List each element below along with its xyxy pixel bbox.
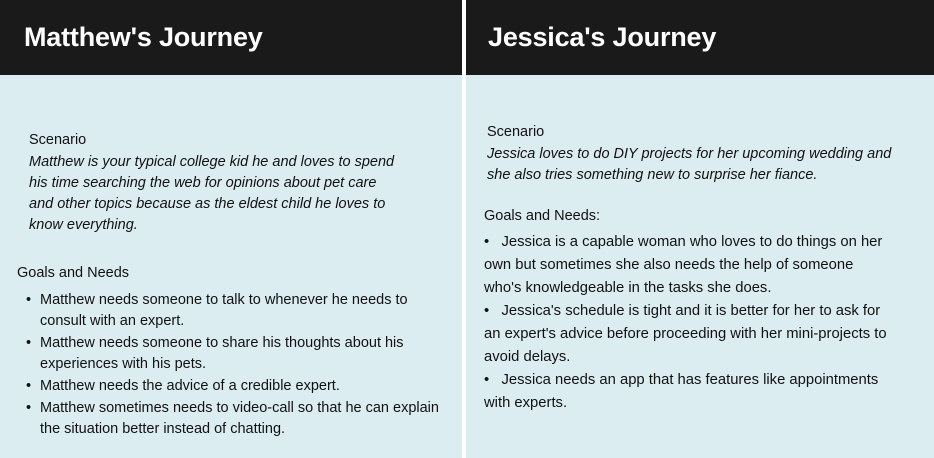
list-item-text: Jessica is a capable woman who loves to … xyxy=(484,234,882,296)
scenario-block-matthew: Scenario Matthew is your typical college… xyxy=(29,130,399,236)
goals-block-matthew: Goals and Needs Matthew needs someone to… xyxy=(17,263,449,441)
page-title-matthew: Matthew's Journey xyxy=(24,23,263,53)
list-item: Matthew needs someone to talk to wheneve… xyxy=(17,290,449,332)
journey-comparison-board: Matthew's Journey Scenario Matthew is yo… xyxy=(0,0,934,458)
list-item: Matthew sometimes needs to video-call so… xyxy=(17,398,449,440)
goals-label-jessica: Goals and Needs: xyxy=(484,206,888,227)
list-item: • Jessica is a capable woman who loves t… xyxy=(484,231,888,300)
goals-block-jessica: Goals and Needs: • Jessica is a capable … xyxy=(484,206,888,415)
bullet-marker: • xyxy=(484,303,502,319)
list-item: Matthew needs someone to share his thoug… xyxy=(17,333,449,375)
list-item: • Jessica needs an app that has features… xyxy=(484,369,888,415)
column-header-jessica: Jessica's Journey xyxy=(466,0,934,75)
scenario-text-matthew: Matthew is your typical college kid he a… xyxy=(29,152,399,236)
list-item: • Jessica's schedule is tight and it is … xyxy=(484,300,888,369)
scenario-text-jessica: Jessica loves to do DIY projects for her… xyxy=(487,144,899,186)
bullet-marker: • xyxy=(484,234,502,250)
list-item: Matthew needs the advice of a credible e… xyxy=(17,376,449,397)
scenario-label-matthew: Scenario xyxy=(29,130,399,151)
column-header-matthew: Matthew's Journey xyxy=(0,0,462,75)
list-item-text: Jessica needs an app that has features l… xyxy=(484,372,878,411)
scenario-block-jessica: Scenario Jessica loves to do DIY project… xyxy=(487,122,899,186)
column-body-matthew: Scenario Matthew is your typical college… xyxy=(0,75,462,458)
goals-list-matthew: Matthew needs someone to talk to wheneve… xyxy=(17,290,449,440)
scenario-label-jessica: Scenario xyxy=(487,122,899,143)
journey-column-jessica: Jessica's Journey Scenario Jessica loves… xyxy=(466,0,934,458)
list-item-text: Jessica's schedule is tight and it is be… xyxy=(484,303,887,365)
journey-column-matthew: Matthew's Journey Scenario Matthew is yo… xyxy=(0,0,462,458)
column-body-jessica: Scenario Jessica loves to do DIY project… xyxy=(466,75,934,458)
page-title-jessica: Jessica's Journey xyxy=(488,23,716,53)
goals-list-jessica: • Jessica is a capable woman who loves t… xyxy=(484,231,888,415)
goals-label-matthew: Goals and Needs xyxy=(17,263,449,284)
bullet-marker: • xyxy=(484,372,502,388)
